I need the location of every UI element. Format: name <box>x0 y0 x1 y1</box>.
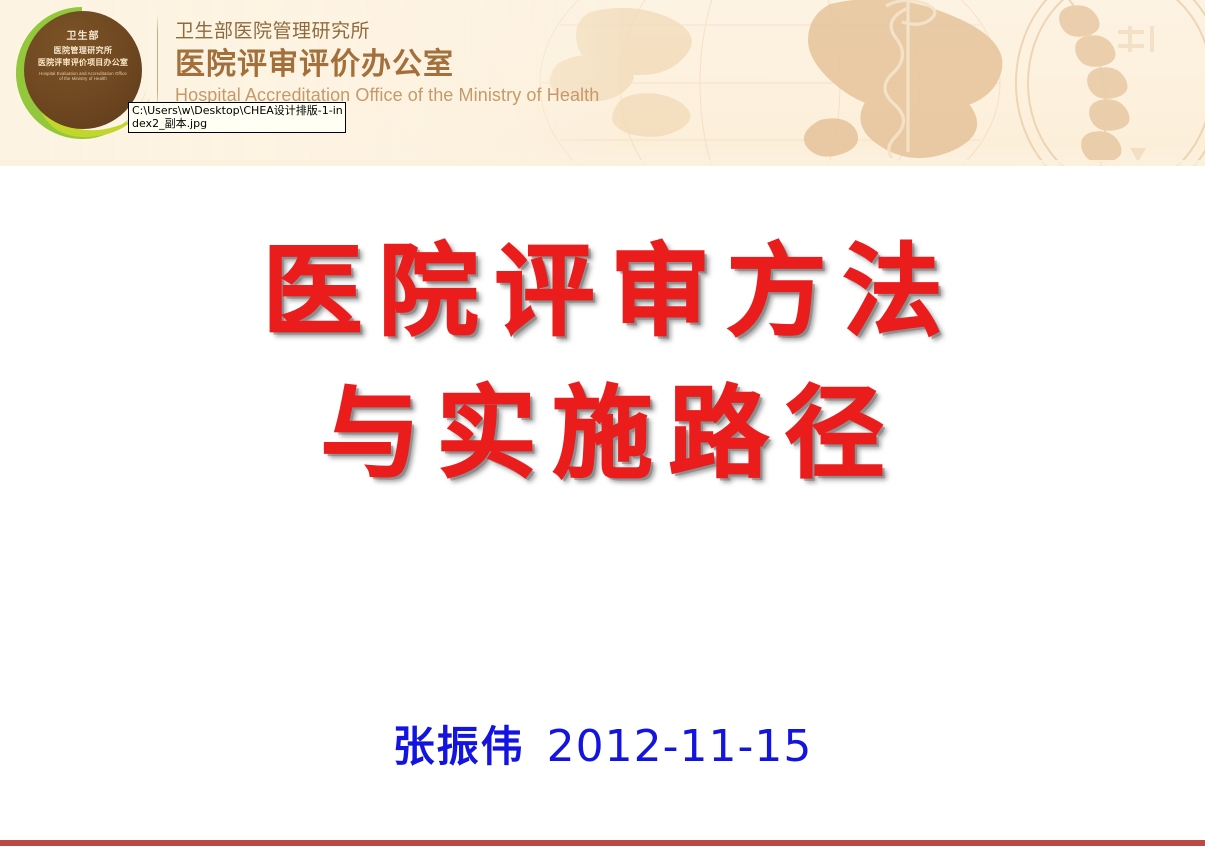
slide-title-line-1: 医院评审方法 <box>0 236 1205 348</box>
header-org-text: 卫生部医院管理研究所 医院评审评价办公室 Hospital Accreditat… <box>175 18 795 107</box>
slide-byline: 张振伟2012-11-15 <box>0 713 1205 774</box>
logo-text-block: 卫生部 医院管理研究所 医院评审评价项目办公室 Hospital Evaluat… <box>24 11 142 129</box>
logo-line-1: 卫生部 <box>67 31 100 44</box>
slide-title-line-2: 与实施路径 <box>0 378 1205 490</box>
header-vertical-divider <box>157 14 158 110</box>
org-office-name: 医院评审评价办公室 <box>175 47 795 82</box>
logo-line-2: 医院管理研究所 <box>54 46 113 56</box>
header-banner: 卫生部 医院管理研究所 医院评审评价项目办公室 Hospital Evaluat… <box>0 0 1205 166</box>
broken-image-path-tooltip: C:\Users\w\Desktop\CHEA设计排版-1-index2_副本.… <box>128 102 346 133</box>
logo-line-5: of the Ministry of Health <box>59 76 107 81</box>
header-bottom-fade <box>0 160 1205 166</box>
org-institute-name: 卫生部医院管理研究所 <box>175 18 795 46</box>
logo-line-3: 医院评审评价项目办公室 <box>38 58 128 68</box>
presentation-slide: 卫生部 医院管理研究所 医院评审评价项目办公室 Hospital Evaluat… <box>0 0 1205 866</box>
presentation-date: 2012-11-15 <box>547 721 813 772</box>
slide-title: 医院评审方法 与实施路径 <box>0 236 1205 490</box>
footer-rule <box>0 840 1205 846</box>
presenter-name: 张振伟 <box>393 722 525 771</box>
